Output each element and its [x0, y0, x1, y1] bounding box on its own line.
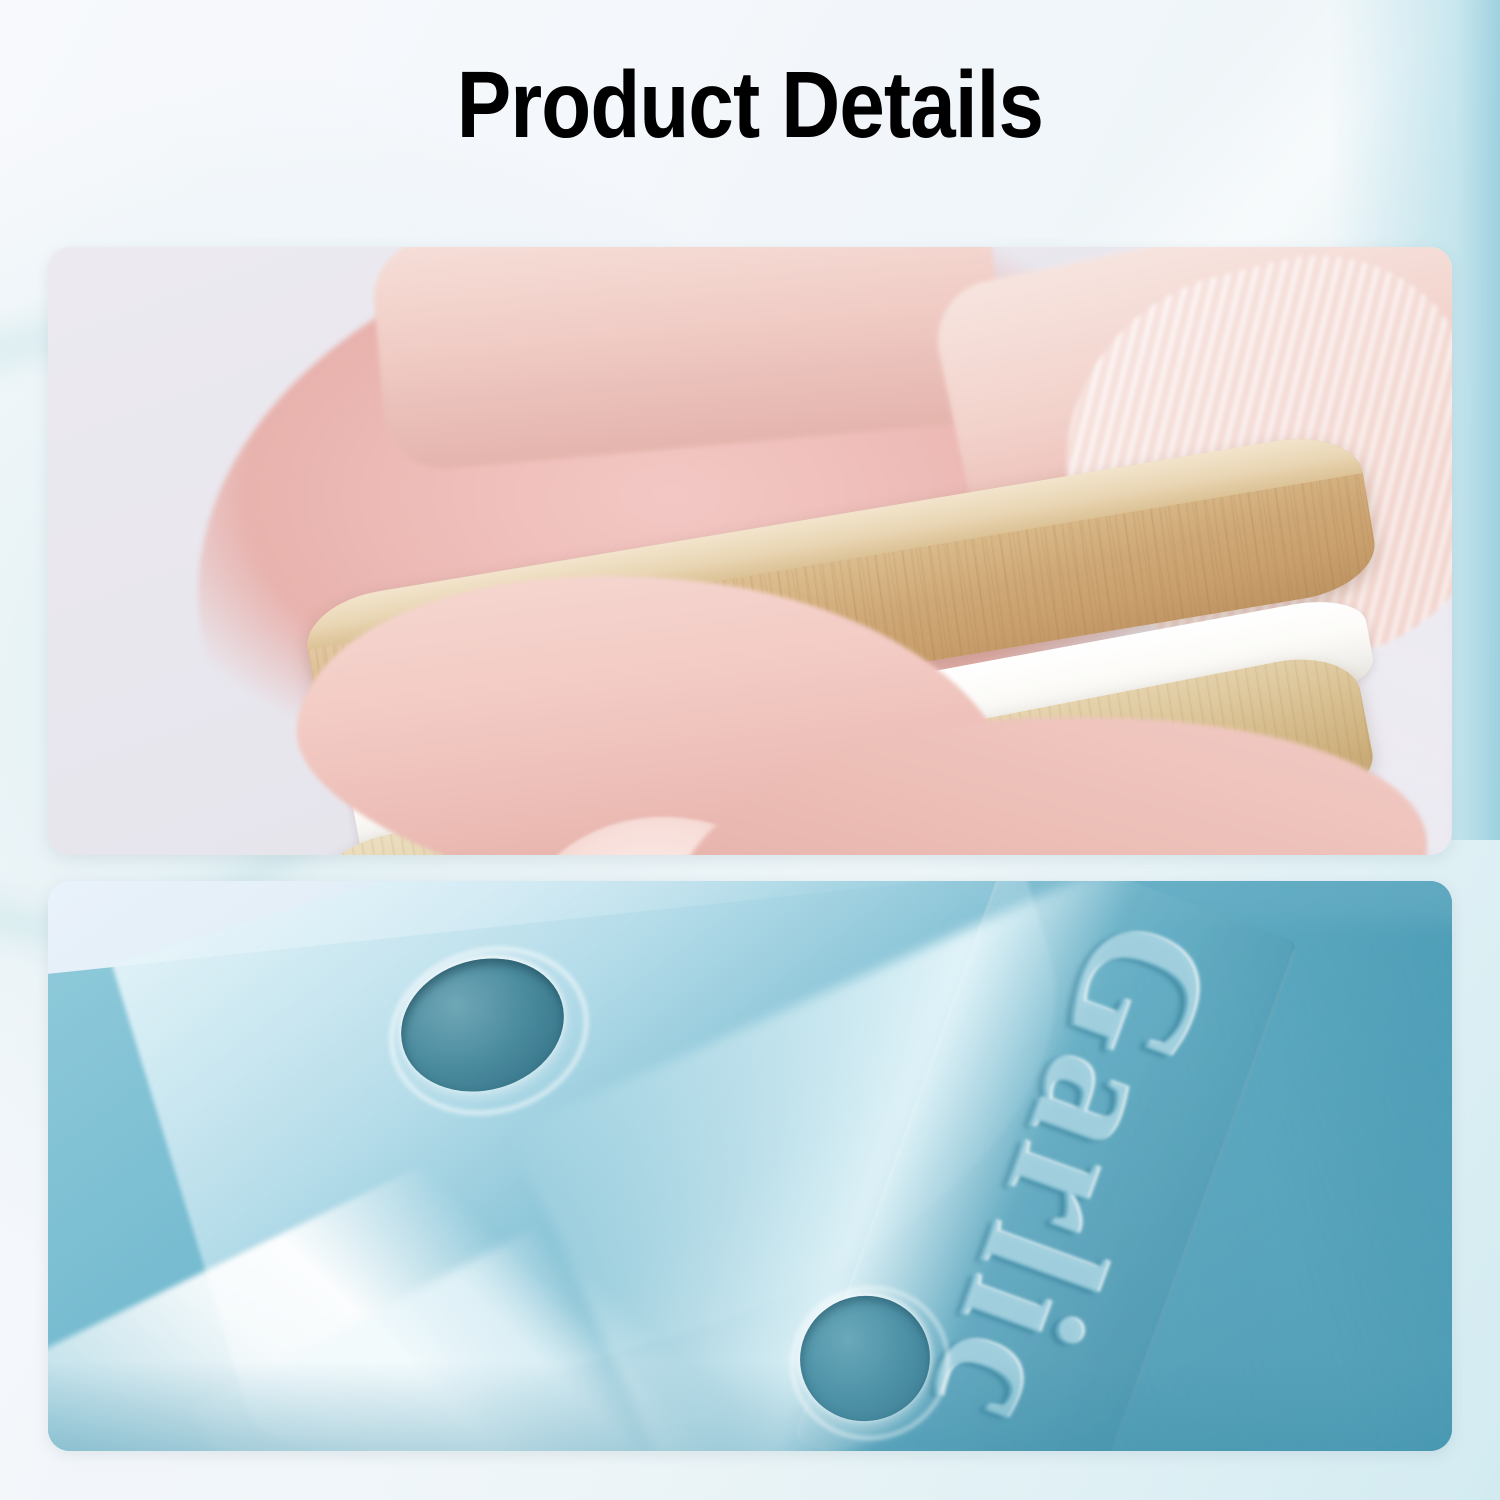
ceramic-jar-panel: Garlic Higt quality ceramic, healthy, ea…: [48, 881, 1452, 1451]
page-title-container: Product Details: [0, 58, 1500, 153]
jar-bottom-shading: [48, 1361, 1452, 1451]
wooden-lid-panel: The wooden lid adds a rich texture, hand…: [48, 247, 1452, 855]
page-title: Product Details: [457, 58, 1043, 153]
wooden-lid-photo: [48, 247, 1452, 855]
product-details-page: Product Details The wooden lid adds a ri…: [0, 0, 1500, 1500]
ceramic-jar-photo: Garlic: [48, 881, 1452, 1451]
